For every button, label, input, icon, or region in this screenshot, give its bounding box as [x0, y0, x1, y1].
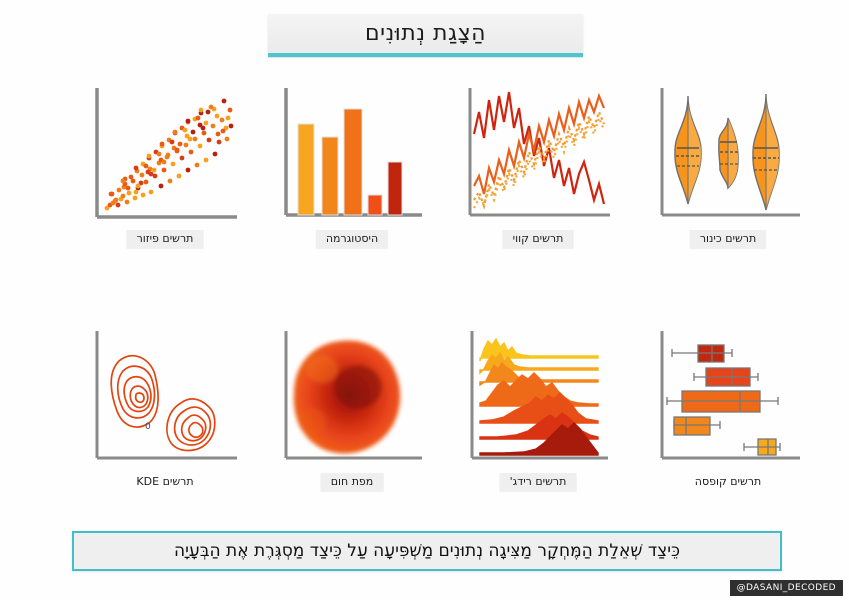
- footer-caption-text: כֵּיצַד שְׁאֵלַת הַמֶּחְקָר מַצִּיגָה נְ…: [174, 541, 680, 561]
- panel-label-line: תרשים קווי: [503, 230, 574, 248]
- page-title: הַצָגַת נְתוּנִים: [365, 21, 486, 46]
- histogram-icon: [272, 82, 432, 227]
- line-chart-icon: [458, 82, 618, 227]
- kde-contour-svg: 0: [85, 325, 245, 470]
- footer-caption-box: כֵּיצַד שְׁאֵלַת הַמֶּחְקָר מַצִּיגָה נְ…: [72, 531, 782, 571]
- title-box: הַצָגַת נְתוּנִים: [268, 14, 583, 52]
- ridgeline-areas: [480, 339, 598, 455]
- panel-scatter[interactable]: תרשים פיזור: [85, 82, 245, 227]
- scatter-plot-icon: [85, 82, 245, 227]
- ridgeline-svg: [458, 325, 618, 470]
- kde-contour-icon: 0: [85, 325, 245, 470]
- slide-canvas: הַצָגַת נְתוּנִים: [0, 0, 849, 600]
- box-plot-icon: [648, 325, 808, 470]
- watermark-badge: @DASANI_DECODED: [730, 580, 843, 596]
- panel-heatmap[interactable]: מפת חום: [272, 325, 432, 470]
- panel-label-boxplot: תרשים קופסה: [685, 473, 771, 491]
- panel-label-scatter: תרשים פיזור: [127, 230, 204, 248]
- histogram-svg: [272, 82, 432, 227]
- panel-label-heatmap: מפת חום: [321, 473, 384, 491]
- heatmap-icon: [272, 325, 432, 470]
- line-chart-svg: [458, 82, 618, 227]
- scatter-plot-svg: [85, 82, 245, 227]
- panel-line[interactable]: תרשים קווי: [458, 82, 618, 227]
- panel-ridgeline[interactable]: תרשים רידג': [458, 325, 618, 470]
- panel-violin[interactable]: תרשים כינור: [648, 82, 808, 227]
- title-accent-rule: [268, 53, 583, 57]
- ridgeline-icon: [458, 325, 618, 470]
- histogram-bars: [298, 109, 402, 215]
- panel-kde[interactable]: 0 תרשים KDE: [85, 325, 245, 470]
- box-plot-svg: [648, 325, 808, 470]
- kde-contour-lines: [111, 356, 215, 451]
- scatter-points: [105, 99, 234, 211]
- panel-histogram[interactable]: היסטוגרמה: [272, 82, 432, 227]
- heatmap-blob: [294, 341, 400, 454]
- violin-plot-svg: [648, 82, 808, 227]
- violin-shapes: [675, 94, 779, 210]
- panel-label-kde: תרשים KDE: [126, 473, 203, 491]
- heatmap-svg: [272, 325, 432, 470]
- slide-title-block: הַצָגַת נְתוּנִים: [268, 14, 583, 54]
- panel-label-ridgeline: תרשים רידג': [500, 473, 577, 491]
- boxplot-items: [667, 345, 780, 455]
- panel-label-violin: תרשים כינור: [690, 230, 766, 248]
- kde-level-annotation: 0: [145, 422, 151, 432]
- panel-boxplot[interactable]: תרשים קופסה: [648, 325, 808, 470]
- violin-plot-icon: [648, 82, 808, 227]
- panel-label-histogram: היסטוגרמה: [316, 230, 388, 248]
